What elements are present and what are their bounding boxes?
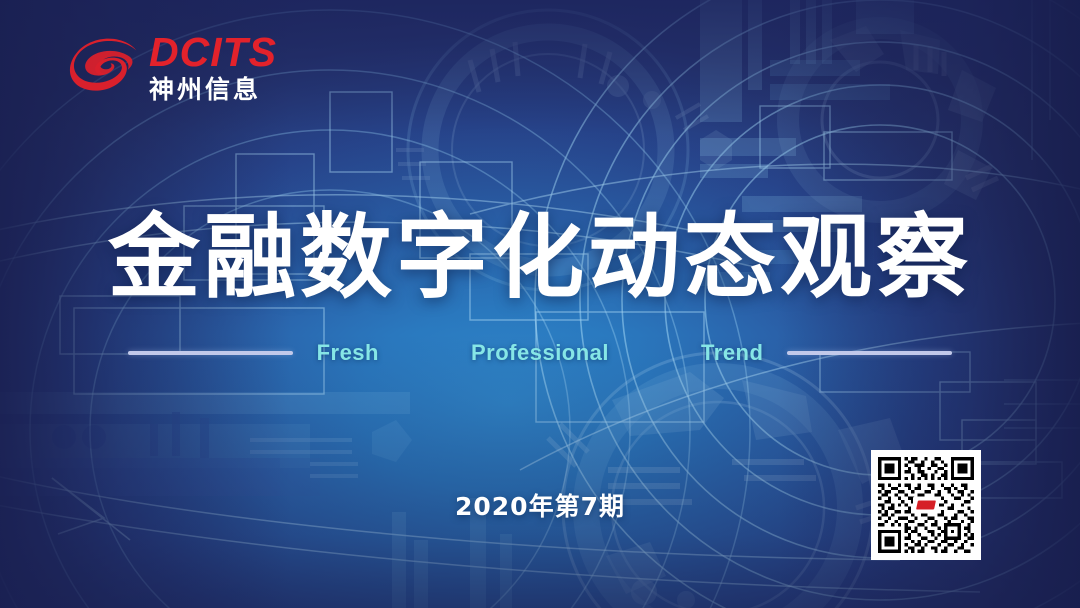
tagline-word-trend: Trend bbox=[701, 340, 763, 366]
brand-logo[interactable]: DCITS 神州信息 bbox=[68, 31, 277, 103]
brand-name-cn: 神州信息 bbox=[149, 78, 277, 103]
tagline-rule-left bbox=[128, 351, 293, 355]
dcits-swirl-mark-icon bbox=[68, 31, 140, 103]
slide-cover: DCITS 神州信息 金融数字化动态观察 Fresh Professional … bbox=[0, 0, 1080, 608]
brand-logo-text: DCITS 神州信息 bbox=[149, 32, 277, 103]
tagline-row: Fresh Professional Trend bbox=[0, 340, 1080, 366]
qr-code[interactable] bbox=[871, 450, 981, 560]
tagline-word-fresh: Fresh bbox=[317, 340, 379, 366]
tagline-rule-right bbox=[787, 351, 952, 355]
brand-name-en: DCITS bbox=[149, 32, 277, 73]
tagline-word-professional: Professional bbox=[471, 340, 609, 366]
tagline-words: Fresh Professional Trend bbox=[317, 340, 764, 366]
qr-center-logo-icon bbox=[913, 497, 939, 514]
page-title: 金融数字化动态观察 bbox=[0, 183, 1080, 316]
